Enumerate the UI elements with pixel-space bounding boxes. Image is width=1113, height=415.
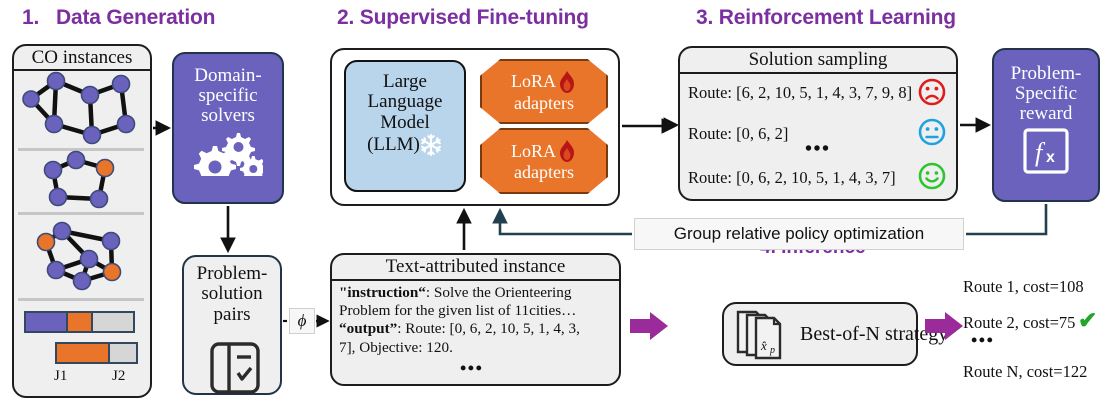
line-reward-to-grpo: [966, 204, 1046, 234]
grpo-feedback-label: Group relative policy optimization: [634, 218, 964, 250]
arrow-best-of-n-to-outputs: [925, 312, 963, 340]
arrow-grpo-to-sft: [500, 211, 632, 234]
figure-canvas: 1. Data Generation 2. Supervised Fine-tu…: [0, 0, 1113, 415]
arrow-text-instance-to-best-of-n: [630, 312, 668, 340]
connectors-layer: [0, 0, 1113, 415]
phi-mapping-box: ϕ: [289, 308, 315, 334]
